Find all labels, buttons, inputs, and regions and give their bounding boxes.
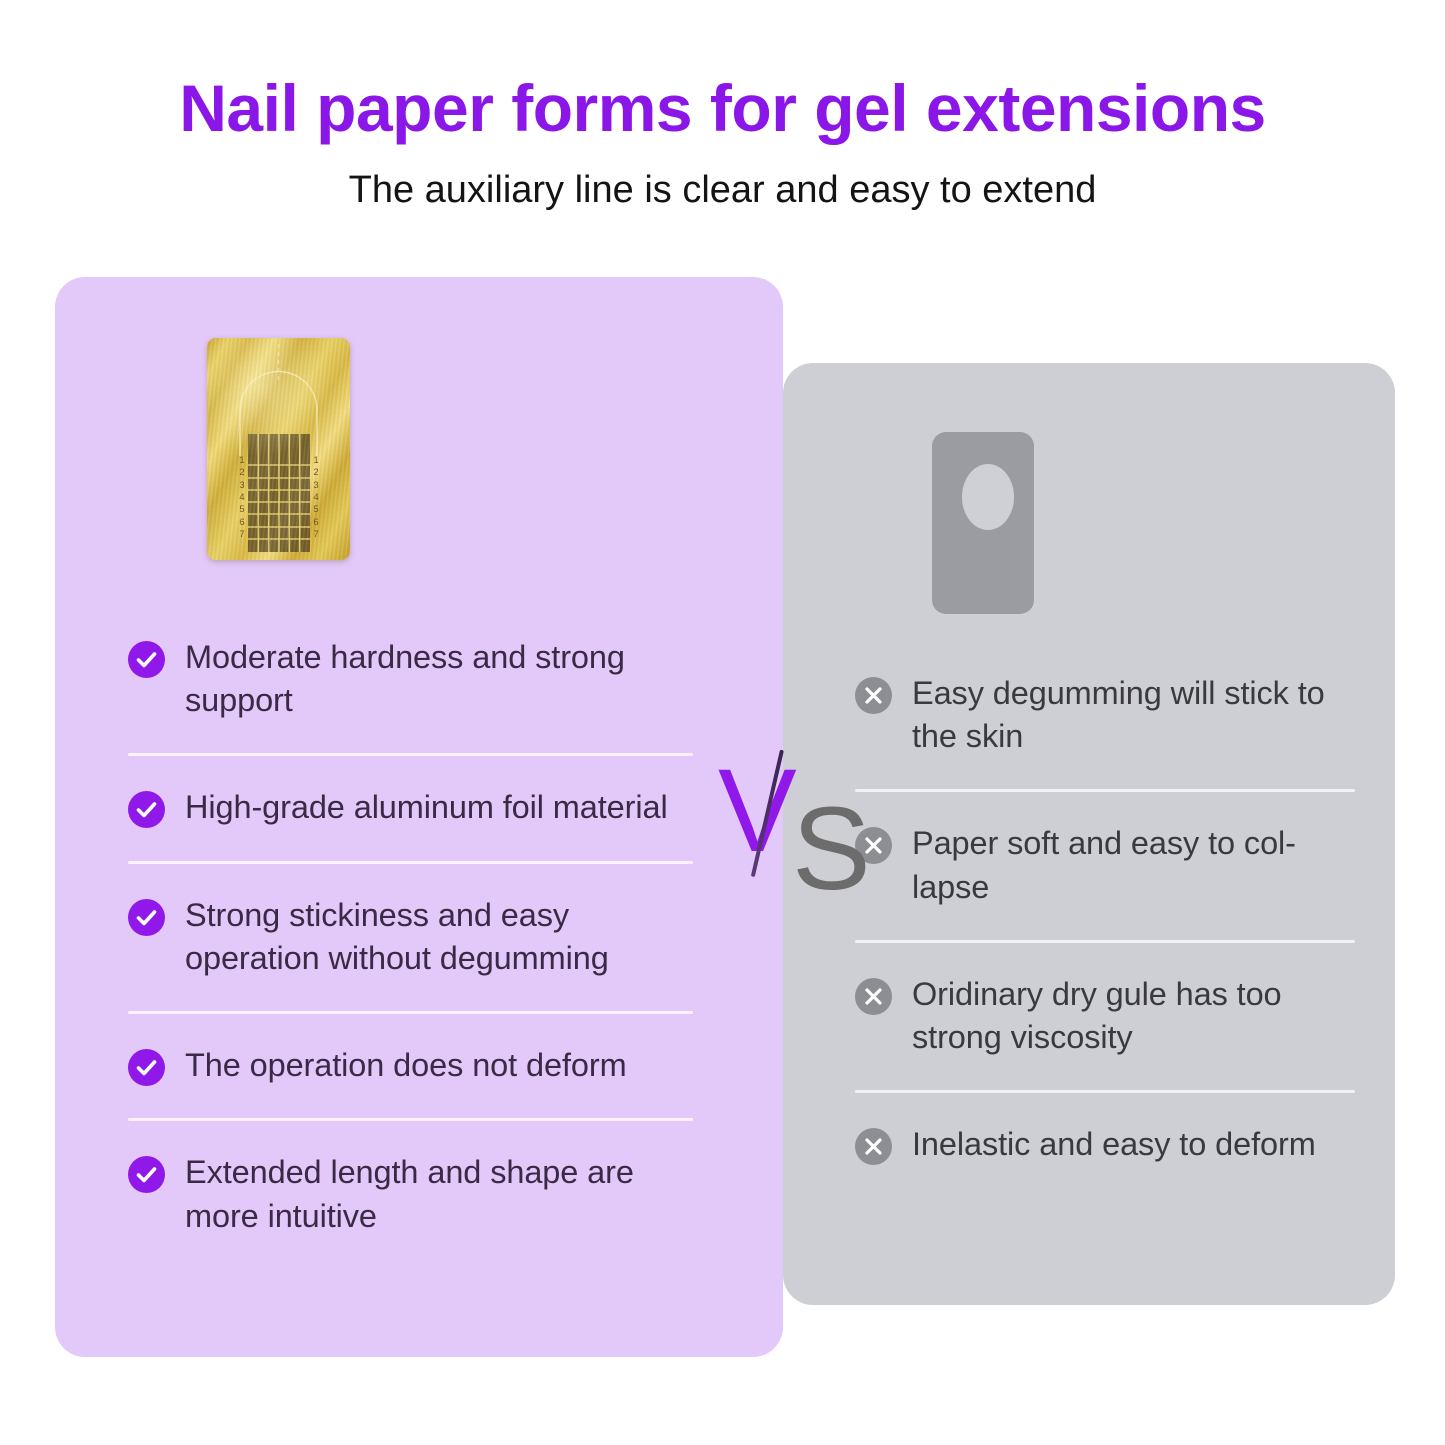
list-item: Easy degumming will stick to the skin xyxy=(855,672,1355,758)
feature-text: Moderate hardness and strong support xyxy=(185,636,693,722)
gold-nail-form-image: 123 456 7 123 456 7 xyxy=(207,338,350,560)
list-item: Strong stickiness and easy operation wit… xyxy=(128,894,693,980)
svg-text:6: 6 xyxy=(239,517,244,528)
svg-text:7: 7 xyxy=(239,529,244,540)
svg-text:4: 4 xyxy=(239,492,244,503)
svg-text:5: 5 xyxy=(313,504,318,515)
new-feature-list: Moderate hardness and strong support Hig… xyxy=(128,636,693,1238)
svg-text:1: 1 xyxy=(239,455,244,466)
cross-icon xyxy=(855,978,892,1015)
list-divider xyxy=(128,753,693,756)
feature-text: The operation does not deform xyxy=(185,1044,627,1087)
svg-text:7: 7 xyxy=(313,529,318,540)
list-item: The operation does not deform xyxy=(128,1044,693,1087)
list-item: High-grade aluminum foil material xyxy=(128,786,693,829)
infographic-root: Nail paper forms for gel extensions The … xyxy=(0,0,1445,1445)
check-icon xyxy=(128,641,165,678)
nail-form-guide-lines: 123 456 7 123 456 7 xyxy=(207,338,350,560)
list-item: Inelastic and easy to deform xyxy=(855,1123,1355,1166)
feature-text: Easy degumming will stick to the skin xyxy=(912,672,1355,758)
list-divider xyxy=(855,940,1355,943)
svg-text:5: 5 xyxy=(239,504,244,515)
feature-text: Oridinary dry gule has too strong viscos… xyxy=(912,973,1355,1059)
svg-text:6: 6 xyxy=(313,517,318,528)
versus-s-letter: S xyxy=(792,790,871,908)
feature-text: Inelastic and easy to deform xyxy=(912,1123,1316,1166)
list-divider xyxy=(128,861,693,864)
others-product-silhouette xyxy=(932,432,1034,614)
svg-text:4: 4 xyxy=(313,492,318,503)
check-icon xyxy=(128,899,165,936)
list-item: Moderate hardness and strong support xyxy=(128,636,693,722)
check-icon xyxy=(128,1156,165,1193)
list-divider xyxy=(128,1118,693,1121)
feature-text: Paper soft and easy to col-lapse xyxy=(912,822,1355,908)
cross-icon xyxy=(855,677,892,714)
svg-text:3: 3 xyxy=(239,480,244,491)
check-icon xyxy=(128,791,165,828)
list-divider xyxy=(128,1011,693,1014)
feature-text: Strong stickiness and easy operation wit… xyxy=(185,894,693,980)
svg-text:2: 2 xyxy=(239,467,244,478)
others-silhouette-nail-cutout xyxy=(962,464,1014,530)
svg-text:1: 1 xyxy=(313,455,318,466)
page-title: Nail paper forms for gel extensions xyxy=(0,74,1445,143)
svg-text:2: 2 xyxy=(313,467,318,478)
list-item: Oridinary dry gule has too strong viscos… xyxy=(855,973,1355,1059)
others-feature-list: Easy degumming will stick to the skin Pa… xyxy=(855,672,1355,1167)
list-item: Paper soft and easy to col-lapse xyxy=(855,822,1355,908)
versus-mark: V S xyxy=(718,752,858,882)
feature-text: Extended length and shape are more intui… xyxy=(185,1151,693,1237)
list-item: Extended length and shape are more intui… xyxy=(128,1151,693,1237)
feature-text: High-grade aluminum foil material xyxy=(185,786,668,829)
svg-text:3: 3 xyxy=(313,480,318,491)
list-divider xyxy=(855,1090,1355,1093)
page-subtitle: The auxiliary line is clear and easy to … xyxy=(0,168,1445,214)
check-icon xyxy=(128,1049,165,1086)
list-divider xyxy=(855,789,1355,792)
cross-icon xyxy=(855,1128,892,1165)
